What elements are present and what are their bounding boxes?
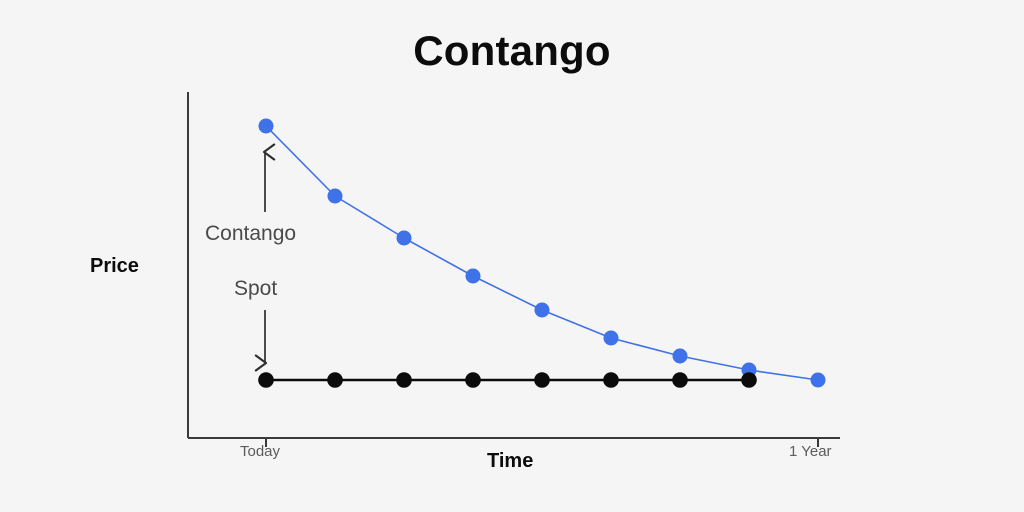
spot-point <box>258 372 274 388</box>
x-axis-label: Time <box>487 450 533 473</box>
spot-price-series <box>258 372 757 388</box>
y-axis-label: Price <box>90 255 139 278</box>
spot-point <box>534 372 550 388</box>
futures-point-group <box>259 119 826 388</box>
futures-point <box>328 189 343 204</box>
futures-point <box>811 373 826 388</box>
chart-canvas: Contango <box>0 0 1024 512</box>
x-tick-label-today: Today <box>240 443 280 460</box>
x-tick-label-one-year: 1 Year <box>789 443 832 460</box>
futures-curve-line <box>266 126 818 380</box>
spot-point <box>603 372 619 388</box>
futures-point <box>397 231 412 246</box>
spot-point <box>741 372 757 388</box>
futures-point <box>259 119 274 134</box>
futures-point <box>535 303 550 318</box>
futures-point <box>673 349 688 364</box>
spot-annotation-label: Spot <box>234 277 277 301</box>
futures-point <box>604 331 619 346</box>
spot-point <box>465 372 481 388</box>
spot-point <box>396 372 412 388</box>
spot-point <box>327 372 343 388</box>
contango-plot <box>0 0 1024 512</box>
spot-point <box>672 372 688 388</box>
futures-curve-series <box>259 119 826 388</box>
futures-point <box>466 269 481 284</box>
contango-annotation-label: Contango <box>205 222 296 246</box>
